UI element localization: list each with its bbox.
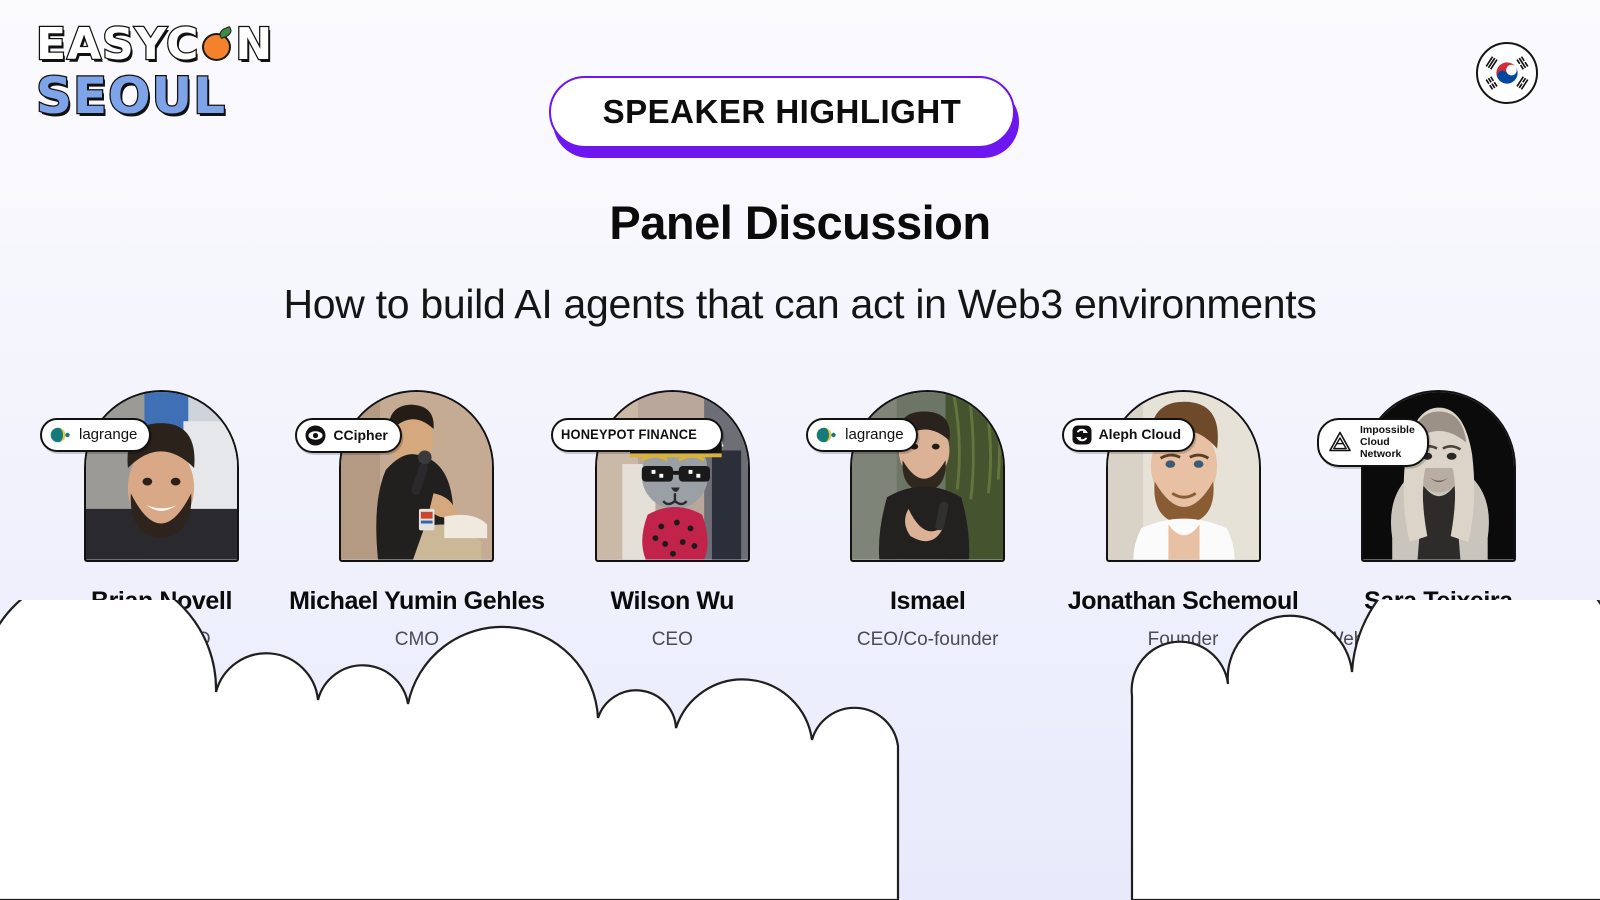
speaker-name: Brian Novell: [91, 587, 232, 616]
easycon-seoul-logo: EASYC N SEOUL: [36, 22, 286, 132]
speaker-card-brian-novell: lagrange Brian Novell Head of BD (Modera…: [40, 390, 283, 679]
speaker-list: lagrange Brian Novell Head of BD (Modera…: [40, 390, 1560, 680]
company-name: CCipher: [333, 428, 387, 444]
company-name: Aleph Cloud: [1099, 427, 1181, 443]
company-badge-honeypot-finance: HONEYPOT FINANCE: [551, 418, 723, 452]
company-badge-lagrange: lagrange: [40, 418, 151, 452]
company-name: HONEYPOT FINANCE: [561, 427, 697, 443]
speaker-name: Jonathan Schemoul: [1068, 587, 1299, 616]
speaker-photo-wilson-wu: [595, 390, 750, 562]
company-badge-lagrange: lagrange: [806, 418, 917, 452]
speaker-photo-jonathan-schemoul: [1106, 390, 1261, 562]
speaker-card-michael-yumin-gehles: CCipher Michael Yumin Gehles CMO: [295, 390, 538, 653]
speaker-name: Ismael: [890, 587, 965, 616]
speaker-name: Sara Teixeira: [1364, 587, 1513, 616]
company-badge-ccipher: CCipher: [295, 418, 401, 453]
logo-line-seoul: SEOUL: [36, 70, 286, 122]
ccipher-eye-icon: [305, 425, 326, 446]
photo-zone: CCipher: [295, 390, 538, 570]
photo-zone: Impossible Cloud Network: [1317, 390, 1560, 570]
speaker-card-sara-teixeira: Impossible Cloud Network Sara Teixeira W…: [1317, 390, 1560, 653]
lagrange-logo-icon: [816, 426, 838, 444]
logo-line-easycon: EASYC N: [36, 22, 286, 68]
speaker-photo-brian-novell: [84, 390, 239, 562]
speaker-role: Head of BD (Moderator): [112, 627, 211, 679]
speaker-role: Web3 Marketing Executive: [1326, 627, 1552, 653]
lagrange-logo-icon: [50, 426, 72, 444]
logo-text-post: N: [235, 22, 273, 68]
company-badge-aleph-cloud: Aleph Cloud: [1062, 418, 1195, 452]
speaker-photo-ismael: [850, 390, 1005, 562]
speaker-role: CEO: [652, 627, 693, 653]
speaker-highlight-badge: SPEAKER HIGHLIGHT: [549, 76, 1019, 158]
speaker-photo-sara-teixeira: [1361, 390, 1516, 562]
aleph-cloud-logo-icon: [1072, 425, 1092, 445]
photo-zone: Aleph Cloud: [1062, 390, 1305, 570]
photo-zone: lagrange: [806, 390, 1049, 570]
speaker-card-jonathan-schemoul: Aleph Cloud Jonathan Schemoul Founder: [1062, 390, 1305, 653]
logo-text-pre: EASYC: [36, 22, 199, 68]
company-name: Impossible Cloud Network: [1360, 425, 1415, 460]
slide-canvas: EASYC N SEOUL: [0, 0, 1600, 900]
impossible-cloud-network-logo-icon: [1327, 430, 1353, 456]
photo-zone: lagrange: [40, 390, 283, 570]
company-name: lagrange: [845, 427, 903, 444]
speaker-highlight-label: SPEAKER HIGHLIGHT: [603, 93, 962, 131]
speaker-card-wilson-wu: HONEYPOT FINANCE Wilson Wu CEO: [551, 390, 794, 653]
company-badge-impossible-cloud-network: Impossible Cloud Network: [1317, 418, 1429, 467]
speaker-role: CMO: [395, 627, 439, 653]
page-subtitle: How to build AI agents that can act in W…: [0, 281, 1600, 328]
company-name: lagrange: [79, 427, 137, 444]
speaker-role: Founder: [1148, 627, 1219, 653]
south-korea-flag-icon: [1476, 42, 1538, 104]
speaker-role: CEO/Co-founder: [857, 627, 999, 653]
speaker-photo-michael-yumin-gehles: [339, 390, 494, 562]
speaker-name: Wilson Wu: [611, 587, 734, 616]
page-title: Panel Discussion: [0, 195, 1600, 250]
orange-fruit-icon: [200, 28, 234, 62]
photo-zone: HONEYPOT FINANCE: [551, 390, 794, 570]
badge-pill: SPEAKER HIGHLIGHT: [549, 76, 1015, 148]
speaker-card-ismael: lagrange Ismael CEO/Co-founder: [806, 390, 1049, 653]
speaker-name: Michael Yumin Gehles: [289, 587, 545, 616]
